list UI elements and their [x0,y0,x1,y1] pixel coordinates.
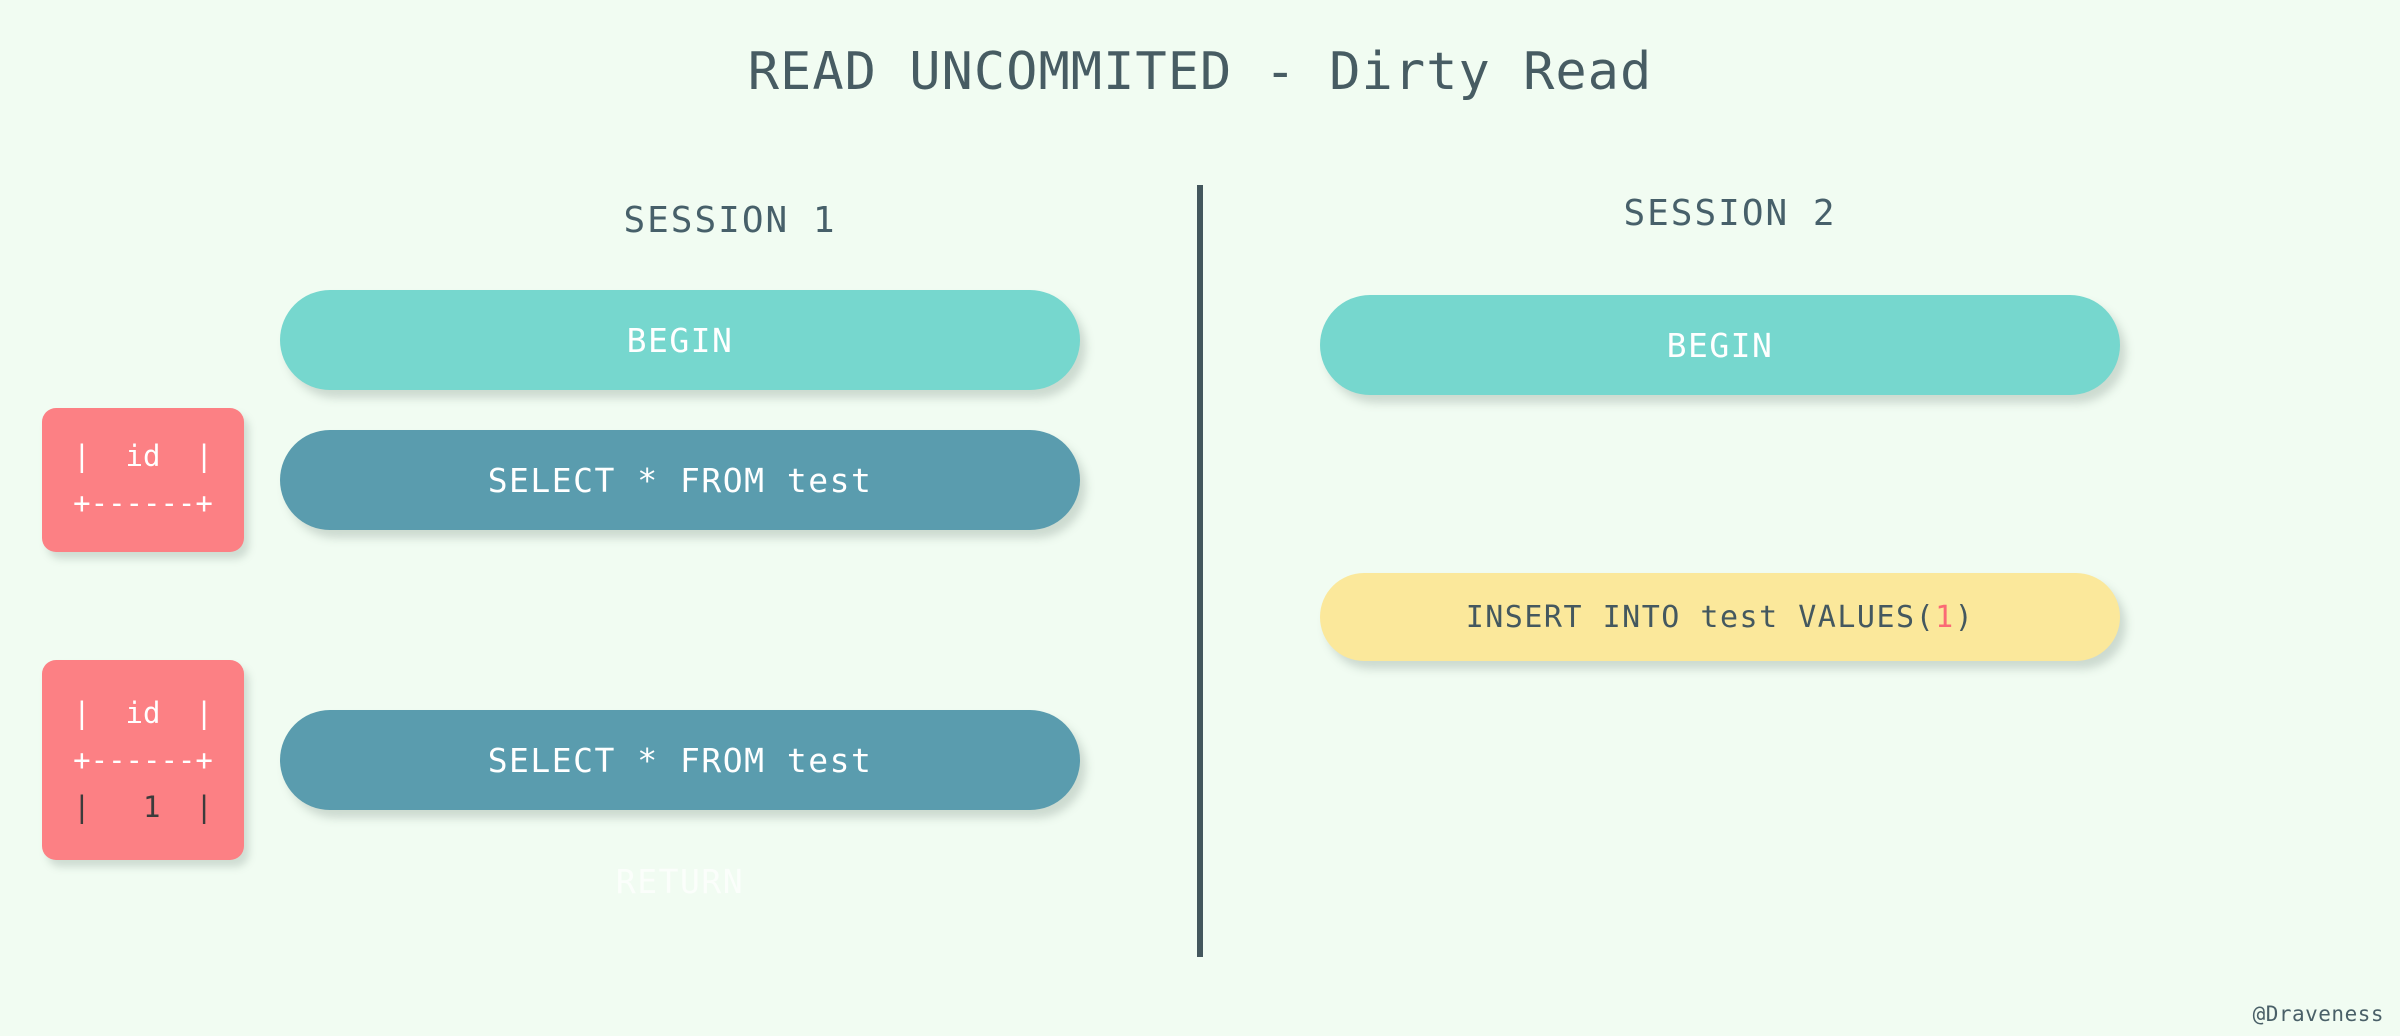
result-row: | id | [73,433,213,480]
insert-statement-value: 1 [1935,600,1955,635]
result-row-dirty-value: | 1 | [73,784,213,831]
session-2-step-begin[interactable]: BEGIN [1320,295,2120,395]
insert-statement-suffix: ) [1955,600,1975,635]
session-2-heading: SESSION 2 [1430,193,2030,234]
author-watermark: @Draveness [2253,1002,2384,1026]
result-row: +------+ [73,480,213,527]
result-row: | id | [73,690,213,737]
session-divider [1197,185,1203,957]
page-title: READ UNCOMMITED - Dirty Read [0,42,2400,102]
session-1-result-dirty-row: | id | +------+ | 1 | [42,660,244,860]
session-1-result-empty: | id | +------+ [42,408,244,552]
session-2-step-insert[interactable]: INSERT INTO test VALUES(1) [1320,573,2120,661]
session-1-step-select-first[interactable]: SELECT * FROM test [280,430,1080,530]
diagram-canvas: READ UNCOMMITED - Dirty Read SESSION 1 S… [0,0,2400,1036]
session-1-step-return-ghost: RETURN [280,862,1080,901]
result-row: +------+ [73,737,213,784]
session-1-step-select-second[interactable]: SELECT * FROM test [280,710,1080,810]
session-1-step-begin[interactable]: BEGIN [280,290,1080,390]
session-1-heading: SESSION 1 [430,200,1030,241]
insert-statement-prefix: INSERT INTO test VALUES( [1466,600,1935,635]
